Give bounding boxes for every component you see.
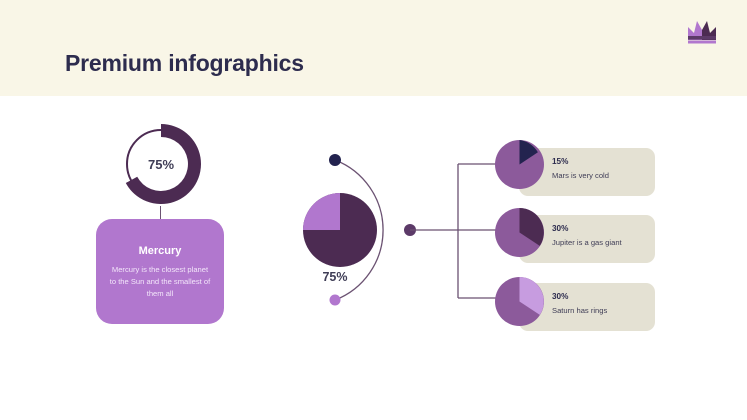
page-title: Premium infographics — [65, 50, 304, 77]
mercury-card-description: Mercury is the closest planet to the Sun… — [108, 264, 212, 299]
fact-text: Jupiter is a gas giant — [552, 238, 655, 247]
orbit-dot-top — [329, 154, 341, 166]
fact-pie-jupiter — [495, 208, 544, 257]
orbit-dot-bottom — [330, 295, 341, 306]
header-band — [0, 0, 747, 96]
mercury-card-title: Mercury — [108, 245, 212, 257]
mercury-info-card[interactable]: Mercury Mercury is the closest planet to… — [96, 219, 224, 324]
fact-pie-mars — [495, 140, 544, 189]
fact-pie-saturn — [495, 277, 544, 326]
center-pie-value-label: 75% — [290, 270, 380, 284]
fact-percent: 15% — [552, 157, 655, 166]
fact-text: Saturn has rings — [552, 306, 655, 315]
fact-percent: 30% — [552, 224, 655, 233]
mercury-donut-chart: 75% — [117, 120, 205, 208]
fact-percent: 30% — [552, 292, 655, 301]
fact-text: Mars is very cold — [552, 171, 655, 180]
slide-canvas: Premium infographics 75% Mercury Mercury… — [0, 0, 747, 420]
donut-value-label: 75% — [117, 120, 205, 208]
crown-icon — [686, 18, 718, 46]
center-pie-chart — [303, 193, 377, 267]
